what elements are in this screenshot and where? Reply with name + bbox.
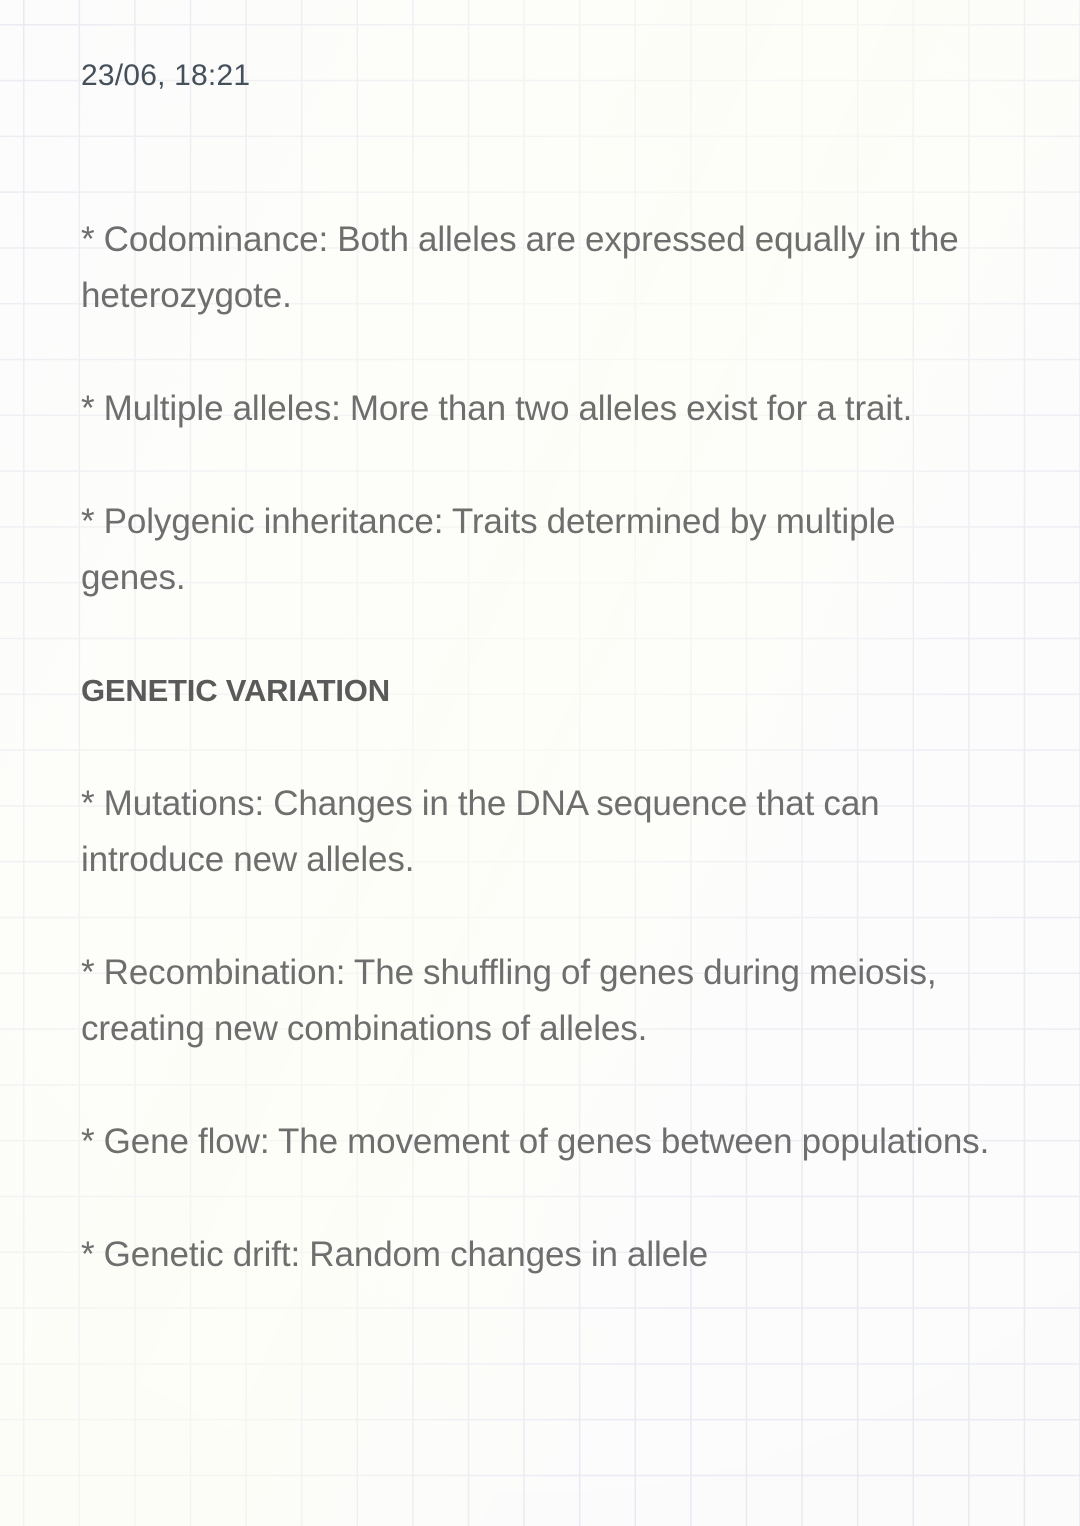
note-heading-genetic-variation: GENETIC VARIATION <box>81 663 1006 719</box>
note-paragraph-genetic-drift: * Genetic drift: Random changes in allel… <box>81 1227 991 1283</box>
note-content-column: 23/06, 18:21 * Codominance: Both alleles… <box>81 0 1006 1526</box>
note-paragraph-multiple-alleles: * Multiple alleles: More than two allele… <box>81 381 991 437</box>
note-timestamp: 23/06, 18:21 <box>81 56 250 96</box>
note-paragraph-gene-flow: * Gene flow: The movement of genes betwe… <box>81 1114 991 1170</box>
note-paragraph-codominance: * Codominance: Both alleles are expresse… <box>81 212 991 324</box>
note-paragraph-mutations: * Mutations: Changes in the DNA sequence… <box>81 776 991 888</box>
note-paragraph-polygenic-inheritance: * Polygenic inheritance: Traits determin… <box>81 494 991 606</box>
note-paragraph-recombination: * Recombination: The shuffling of genes … <box>81 945 991 1057</box>
note-page-background: 23/06, 18:21 * Codominance: Both alleles… <box>0 0 1080 1526</box>
note-body[interactable]: * Codominance: Both alleles are expresse… <box>81 212 1006 1283</box>
